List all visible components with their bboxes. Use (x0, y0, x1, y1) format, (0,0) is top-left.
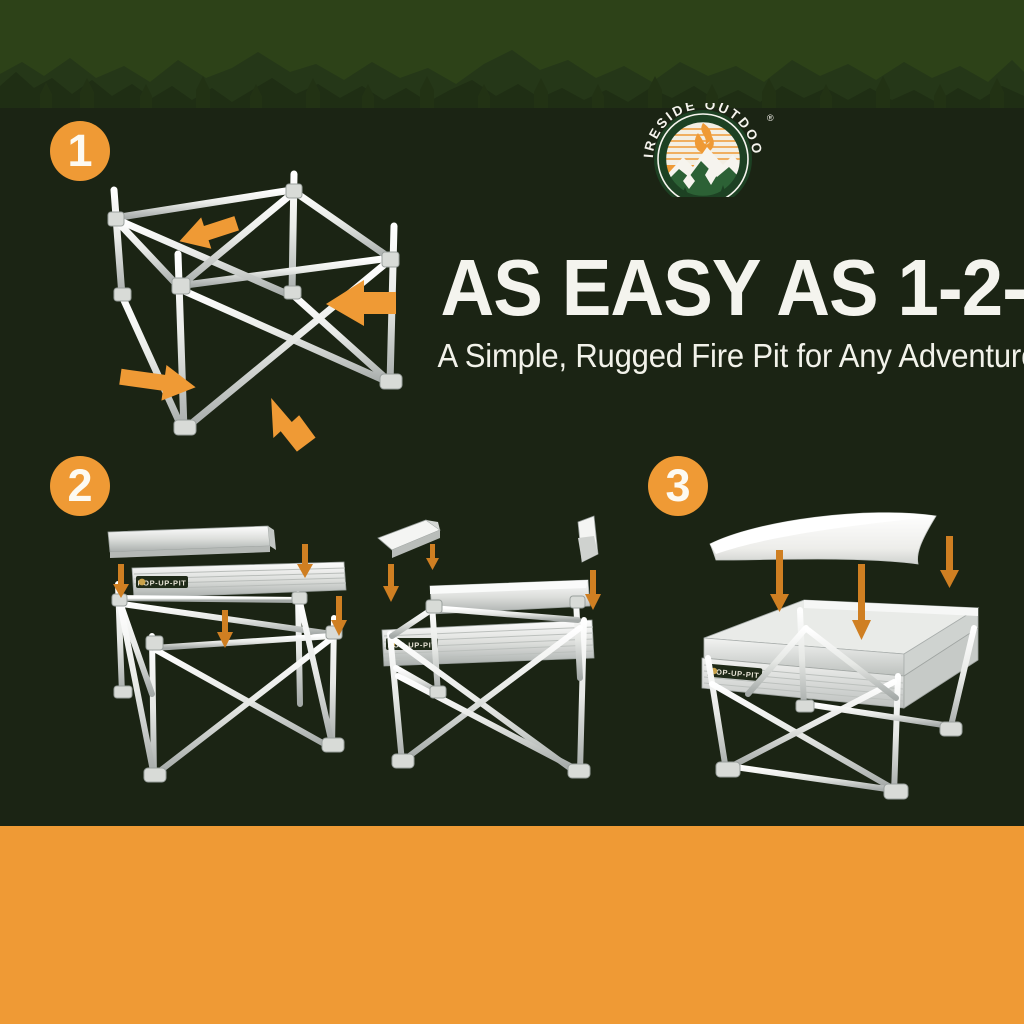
feature-bar: NO FASTENERS OR BOLTS LOW CENTER OF GRAV… (0, 826, 1024, 1024)
installed-side-panel: POP-UP-PIT (132, 562, 346, 598)
fire-hammock (710, 513, 936, 564)
frame-with-end-panels-icon: POP-UP-PIT (368, 508, 634, 802)
detached-side-panel (108, 526, 276, 558)
folding-frame-icon (78, 168, 426, 456)
logo-badge-icon: FIRESIDE OUTDOOR ® (627, 103, 779, 197)
infographic-page: FIRESIDE OUTDOOR ® AS EASY AS 1-2-3 A Si… (0, 0, 1024, 1024)
mountain-tree-silhouette-icon (0, 38, 1024, 108)
step-3-illustration-fire-hammock: POP-UP-PIT (688, 498, 994, 802)
step-2-illustration-left: POP-UP-PIT (96, 508, 364, 802)
forest-silhouette-band (0, 0, 1024, 108)
frame-with-side-panels-icon: POP-UP-PIT (96, 508, 364, 802)
fireside-outdoor-logo: FIRESIDE OUTDOOR ® (627, 103, 779, 197)
headline-block: AS EASY AS 1-2-3 A Simple, Rugged Fire P… (420, 246, 1005, 376)
page-subtitle: A Simple, Rugged Fire Pit for Any Advent… (438, 336, 988, 376)
detached-end-panel-right (578, 516, 598, 562)
expand-arrows-icon (118, 208, 396, 454)
registered-mark: ® (767, 113, 774, 123)
step-1-illustration-unfold-frame (78, 168, 426, 456)
step-badge-2: 2 (50, 456, 110, 516)
assembled-pit-with-hammock-icon: POP-UP-PIT (688, 498, 994, 802)
page-title: AS EASY AS 1-2-3 (440, 246, 984, 330)
step-2-illustration-right: POP-UP-PIT (368, 508, 634, 802)
